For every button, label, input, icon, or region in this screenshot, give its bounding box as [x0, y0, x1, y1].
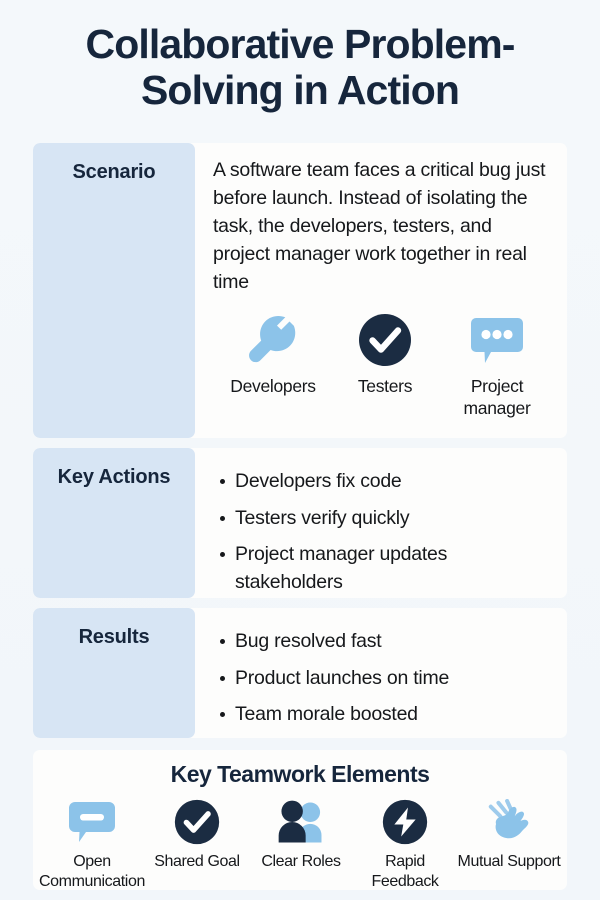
section-label-results: Results — [33, 608, 195, 738]
role-item-project-manager: Project manager — [441, 310, 553, 420]
list-item: Project manager updates stakeholders — [235, 541, 553, 596]
page-title: Collaborative Problem-Solving in Action — [30, 22, 570, 114]
list-item: Bug resolved fast — [235, 628, 553, 656]
role-item-developers: Developers — [217, 310, 329, 420]
section-card-scenario: Scenario A software team faces a critica… — [33, 143, 567, 438]
section-body-scenario: A software team faces a critical bug jus… — [195, 143, 567, 438]
section-card-results: Results Bug resolved fast Product launch… — [33, 608, 567, 738]
teamwork-item-rapid-feedback-loops: Rapid Feedback Loops — [353, 796, 457, 890]
wrench-icon — [245, 310, 301, 370]
role-icon-row: Developers Testers — [213, 310, 553, 420]
infographic-page: Collaborative Problem-Solving in Action … — [0, 0, 600, 900]
speech-bubble-dots-icon — [469, 310, 525, 370]
section-label-text: Results — [79, 626, 150, 738]
list-item: Developers fix code — [235, 468, 553, 496]
teamwork-caption: Open Communication — [39, 852, 145, 890]
key-actions-list: Developers fix code Testers verify quick… — [213, 468, 553, 597]
list-item: Team morale boosted — [235, 701, 553, 729]
section-body-key-actions: Developers fix code Testers verify quick… — [195, 448, 567, 598]
teamwork-panel-title: Key Teamwork Elements — [33, 761, 567, 788]
teamwork-caption: Clear Roles — [261, 852, 340, 872]
speech-bubble-dash-icon — [67, 796, 117, 848]
section-label-scenario: Scenario — [33, 143, 195, 438]
scenario-paragraph: A software team faces a critical bug jus… — [213, 157, 553, 296]
teamwork-item-open-communication: Open Communication — [39, 796, 145, 890]
section-label-key-actions: Key Actions — [33, 448, 195, 598]
teamwork-caption: Rapid Feedback Loops — [353, 852, 457, 890]
section-body-results: Bug resolved fast Product launches on ti… — [195, 608, 567, 738]
section-label-text: Scenario — [73, 161, 156, 438]
teamwork-item-clear-roles: Clear Roles — [249, 796, 353, 890]
role-caption: Project manager — [441, 376, 553, 420]
teamwork-elements-row: Open Communication Shared Goal — [33, 796, 567, 890]
check-circle-icon — [358, 310, 412, 370]
teamwork-panel: Key Teamwork Elements Open Communication — [33, 750, 567, 890]
list-item: Product launches on time — [235, 665, 553, 693]
section-card-key-actions: Key Actions Developers fix code Testers … — [33, 448, 567, 598]
section-label-text: Key Actions — [58, 466, 171, 598]
clapping-hands-icon — [484, 796, 534, 848]
list-item: Testers verify quickly — [235, 505, 553, 533]
teamwork-item-shared-goal: Shared Goal — [145, 796, 249, 890]
role-caption: Developers — [230, 376, 316, 398]
role-item-testers: Testers — [329, 310, 441, 420]
lightning-circle-icon — [382, 796, 428, 848]
two-people-icon — [274, 796, 328, 848]
teamwork-caption: Mutual Support — [458, 852, 561, 872]
teamwork-item-mutual-support: Mutual Support — [457, 796, 561, 890]
teamwork-caption: Shared Goal — [154, 852, 239, 872]
results-list: Bug resolved fast Product launches on ti… — [213, 628, 553, 729]
check-circle-icon — [174, 796, 220, 848]
role-caption: Testers — [358, 376, 412, 398]
